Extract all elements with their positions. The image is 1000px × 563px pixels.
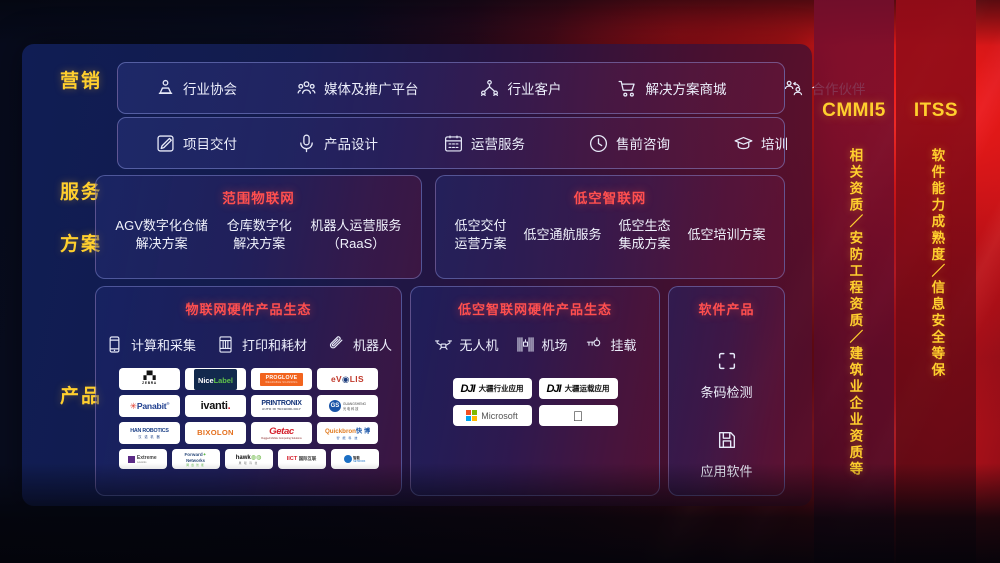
logo-proglove[interactable]: PROGLOVEWEARABLE SCANNING bbox=[251, 368, 312, 390]
logo-quickbron[interactable]: Quickbron快 博智 能 科 技 bbox=[317, 422, 378, 444]
mobile-terminal-icon bbox=[105, 334, 125, 354]
robot-arm-icon bbox=[327, 334, 347, 354]
product-box-lowaltitude-hardware[interactable]: 低空智联网硬件产品生态 无人机 机场 挂载 DJI大疆行业应用 bbox=[410, 286, 660, 496]
cert-title-1: ITSS bbox=[914, 100, 958, 122]
cert-title-0: CMMI5 bbox=[822, 100, 886, 122]
software-label-1: 应用软件 bbox=[669, 461, 784, 480]
microphone-icon bbox=[295, 132, 317, 154]
product-icon-label-0-2: 机器人 bbox=[353, 335, 392, 354]
product-icon-0-2[interactable]: 机器人 bbox=[327, 334, 392, 354]
service-item-1[interactable]: 产品设计 bbox=[295, 132, 378, 154]
service-item-label-0: 项目交付 bbox=[183, 133, 237, 153]
product-icon-0-1[interactable]: 打印和耗材 bbox=[216, 334, 307, 354]
logo-row: HAN ROBOTICS汉 诺 机 器 BIXOLON GetacRugged … bbox=[104, 422, 393, 444]
slide-canvas: 营销 行业协会 媒体及推广平台 行业客户 解决方案商城 合作伙伴 bbox=[0, 0, 1000, 563]
logo-row: Extremenetworks Forward✦Networks网 络 智 能 … bbox=[104, 449, 393, 469]
product-icon-label-0-0: 计算和采集 bbox=[131, 335, 196, 354]
floppy-disk-icon bbox=[669, 427, 784, 453]
handshake-partners-icon bbox=[783, 77, 805, 99]
payload-mount-icon bbox=[585, 334, 605, 354]
service-bar[interactable]: 项目交付 产品设计 运营服务 售前咨询 培训 bbox=[117, 117, 785, 169]
clock-icon bbox=[587, 132, 609, 154]
cert-vertical-text-1: 软件能力成熟度／信息安全等保 bbox=[929, 148, 944, 379]
logo-ivanti[interactable]: ivanti. bbox=[185, 395, 246, 417]
product-icon-0-0[interactable]: 计算和采集 bbox=[105, 334, 196, 354]
pencil-square-icon bbox=[154, 132, 176, 154]
logo-nicelabel[interactable]: NiceLabel bbox=[185, 368, 246, 390]
marketing-item-2[interactable]: 行业客户 bbox=[479, 77, 562, 99]
printer-ribbon-icon bbox=[216, 334, 236, 354]
product-box-title-2: 软件产品 bbox=[669, 299, 784, 318]
service-item-3[interactable]: 售前咨询 bbox=[587, 132, 670, 154]
software-block-0[interactable]: 条码检测 bbox=[669, 348, 784, 401]
network-users-icon bbox=[479, 77, 501, 99]
logo-extreme[interactable]: Extremenetworks bbox=[119, 449, 167, 469]
logo-apple[interactable]:  bbox=[539, 405, 618, 426]
product-icon-label-1-2: 挂载 bbox=[611, 335, 637, 354]
marketing-bar[interactable]: 行业协会 媒体及推广平台 行业客户 解决方案商城 合作伙伴 bbox=[117, 62, 785, 114]
marketing-item-label-1: 媒体及推广平台 bbox=[324, 78, 419, 98]
software-block-1[interactable]: 应用软件 bbox=[669, 427, 784, 480]
row-label-marketing: 营销 bbox=[50, 66, 112, 93]
product-icon-label-1-1: 机场 bbox=[541, 335, 567, 354]
logo-hawk[interactable]: hawk◍◍鹰 眼 科 技 bbox=[225, 449, 273, 469]
scheme-item-1-1: 低空通航服务 bbox=[523, 226, 601, 244]
logo-panabit[interactable]: ✳Panabit® bbox=[119, 395, 180, 417]
people-group-icon bbox=[295, 77, 317, 99]
product-box-iot-hardware[interactable]: 物联网硬件产品生态 计算和采集 打印和耗材 机器人 ▞▚ZEBRA bbox=[95, 286, 402, 496]
product-box-software[interactable]: 软件产品 条码检测 应用软件 bbox=[668, 286, 785, 496]
logo-dji-delivery[interactable]: DJI大疆运载应用 bbox=[539, 378, 618, 399]
logo-bixolon[interactable]: BIXOLON bbox=[185, 422, 246, 444]
scheme-item-1-0: 低空交付 运营方案 bbox=[454, 217, 506, 252]
marketing-item-label-0: 行业协会 bbox=[183, 78, 237, 98]
service-item-label-3: 售前咨询 bbox=[616, 133, 670, 153]
cert-band-itss[interactable]: ITSS 软件能力成熟度／信息安全等保 bbox=[896, 0, 976, 563]
logo-microsoft[interactable]: Microsoft bbox=[453, 405, 532, 426]
architecture-panel: 营销 行业协会 媒体及推广平台 行业客户 解决方案商城 合作伙伴 bbox=[22, 44, 812, 506]
product-box-title-1: 低空智联网硬件产品生态 bbox=[411, 299, 659, 318]
scheme-item-1-3: 低空培训方案 bbox=[687, 226, 765, 244]
service-item-0[interactable]: 项目交付 bbox=[154, 132, 237, 154]
logo-row: Microsoft  bbox=[453, 405, 618, 426]
logo-iict[interactable]: IICT国际互联 bbox=[278, 449, 326, 469]
drone-icon bbox=[433, 334, 453, 354]
scheme-box-lowaltitude[interactable]: 低空智联网 低空交付 运营方案 低空通航服务 低空生态 集成方案 低空培训方案 bbox=[435, 175, 785, 279]
logo-getac[interactable]: GetacRugged Mobile Computing Solutions bbox=[251, 422, 312, 444]
product-icon-label-0-1: 打印和耗材 bbox=[242, 335, 307, 354]
product-icon-1-1[interactable]: 机场 bbox=[515, 334, 567, 354]
scheme-item-1-2: 低空生态 集成方案 bbox=[618, 217, 670, 252]
shopping-cart-icon bbox=[617, 77, 639, 99]
graduation-cap-icon bbox=[732, 132, 754, 154]
logo-intelligent[interactable]: 智能NETWORK bbox=[331, 449, 379, 469]
scheme-box-iot[interactable]: 范围物联网 AGV数字化仓储 解决方案 仓库数字化 解决方案 机器人运营服务 （… bbox=[95, 175, 422, 279]
software-label-0: 条码检测 bbox=[669, 382, 784, 401]
logo-evolis[interactable]: eV◉LIS bbox=[317, 368, 378, 390]
marketing-item-label-2: 行业客户 bbox=[508, 78, 562, 98]
logo-gs[interactable]: GSGUANGSHENG光 电 科 技 bbox=[317, 395, 378, 417]
cert-band-cmmi5[interactable]: CMMI5 相关资质／安防工程资质／建筑业企业资质等 bbox=[814, 0, 894, 563]
logo-row: ✳Panabit® ivanti. PRINTRONIXAUTO ID TECH… bbox=[104, 395, 393, 417]
service-item-label-4: 培训 bbox=[761, 133, 788, 153]
marketing-item-label-3: 解决方案商城 bbox=[646, 78, 727, 98]
logo-row: DJI大疆行业应用 DJI大疆运载应用 bbox=[453, 378, 618, 399]
marketing-item-0[interactable]: 行业协会 bbox=[154, 77, 237, 99]
logo-row: ▞▚ZEBRA NiceLabel PROGLOVEWEARABLE SCANN… bbox=[104, 368, 393, 390]
marketing-item-1[interactable]: 媒体及推广平台 bbox=[295, 77, 419, 99]
product-icon-1-2[interactable]: 挂载 bbox=[585, 334, 637, 354]
product-icon-label-1-0: 无人机 bbox=[459, 335, 498, 354]
scheme-item-0-1: 仓库数字化 解决方案 bbox=[227, 217, 292, 252]
service-item-4[interactable]: 培训 bbox=[732, 132, 788, 154]
podium-speaker-icon bbox=[154, 77, 176, 99]
iot-logo-grid: ▞▚ZEBRA NiceLabel PROGLOVEWEARABLE SCANN… bbox=[96, 368, 401, 469]
microsoft-squares-icon bbox=[466, 410, 477, 421]
logo-hanrobotics[interactable]: HAN ROBOTICS汉 诺 机 器 bbox=[119, 422, 180, 444]
cert-vertical-text-0: 相关资质／安防工程资质／建筑业企业资质等 bbox=[847, 148, 862, 478]
service-item-label-1: 产品设计 bbox=[324, 133, 378, 153]
apple-icon:  bbox=[573, 409, 584, 423]
barcode-scan-frame-icon bbox=[669, 348, 784, 374]
scheme-box-title-0: 范围物联网 bbox=[96, 187, 421, 207]
product-box-title-0: 物联网硬件产品生态 bbox=[96, 299, 401, 318]
scheme-item-0-2: 机器人运营服务 （RaaS） bbox=[311, 217, 402, 252]
marketing-item-3[interactable]: 解决方案商城 bbox=[617, 77, 727, 99]
service-item-2[interactable]: 运营服务 bbox=[442, 132, 525, 154]
logo-zebra[interactable]: ▞▚ZEBRA bbox=[119, 368, 180, 390]
calendar-icon bbox=[442, 132, 464, 154]
logo-printronix[interactable]: PRINTRONIXAUTO ID TECHNOLOGY bbox=[251, 395, 312, 417]
scheme-box-title-1: 低空智联网 bbox=[436, 187, 784, 207]
service-item-label-2: 运营服务 bbox=[471, 133, 525, 153]
logo-dji-industry[interactable]: DJI大疆行业应用 bbox=[453, 378, 532, 399]
scheme-item-0-0: AGV数字化仓储 解决方案 bbox=[115, 217, 207, 252]
lowaltitude-logo-grid: DJI大疆行业应用 DJI大疆运载应用 Microsoft  bbox=[411, 378, 659, 426]
logo-forward-networks[interactable]: Forward✦Networks网 络 智 能 bbox=[172, 449, 220, 469]
airport-icon bbox=[515, 334, 535, 354]
product-icon-1-0[interactable]: 无人机 bbox=[433, 334, 498, 354]
